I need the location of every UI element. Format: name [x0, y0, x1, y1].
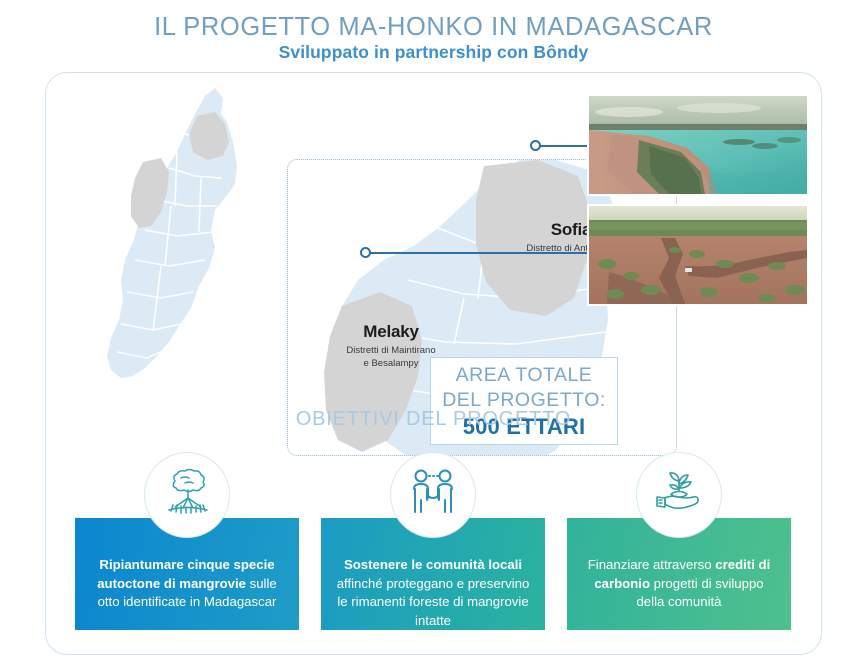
- hand-holding-plant-icon: [651, 467, 707, 524]
- handshake-people-icon: [406, 467, 460, 524]
- map-section: Sofia Distretto di Antsohihy Melaky Dist…: [45, 72, 822, 392]
- objective-icon-circle-1: [144, 452, 230, 538]
- region-districts-melaky-line1: Distretti di Maintirano: [296, 345, 486, 358]
- area-total-box: AREA TOTALE DEL PROGETTO: 500 ETTARI: [430, 357, 618, 445]
- card-3-text: Finanziare attraverso crediti di carboni…: [588, 557, 771, 609]
- photo-sofia-coastal: [587, 94, 809, 196]
- card-3-rest: progetti di sviluppo della comunità: [636, 576, 763, 610]
- card-2-bold: Sostenere le comunità locali: [344, 557, 522, 572]
- region-name-melaky: Melaky: [296, 322, 486, 342]
- page-title: IL PROGETTO MA-HONKO IN MADAGASCAR: [0, 13, 867, 42]
- connector-dot-sofia: [530, 140, 541, 151]
- objectives-heading: OBIETTIVI DEL PROGETTO: [0, 408, 867, 431]
- photo-melaky-scrubland: [587, 204, 809, 306]
- page-subtitle: Sviluppato in partnership con Bôndy: [0, 42, 867, 63]
- objectives-cards: Ripiantumare cinque specie autoctone di …: [0, 452, 867, 642]
- card-2-rest: affinché proteggano e preservino le rima…: [337, 576, 530, 628]
- objective-icon-circle-2: [390, 452, 476, 538]
- objective-icon-circle-3: [636, 452, 722, 538]
- infographic-root: IL PROGETTO MA-HONKO IN MADAGASCAR Svilu…: [0, 0, 867, 662]
- card-3-pre: Finanziare attraverso: [588, 557, 716, 572]
- card-2-text: Sostenere le comunità locali affinché pr…: [337, 557, 530, 628]
- madagascar-overview-map: [65, 80, 305, 392]
- mangrove-tree-icon: [159, 467, 215, 524]
- connector-dot-melaky: [360, 247, 371, 258]
- card-1-text: Ripiantumare cinque specie autoctone di …: [97, 557, 277, 609]
- area-line-1: AREA TOTALE: [456, 363, 593, 388]
